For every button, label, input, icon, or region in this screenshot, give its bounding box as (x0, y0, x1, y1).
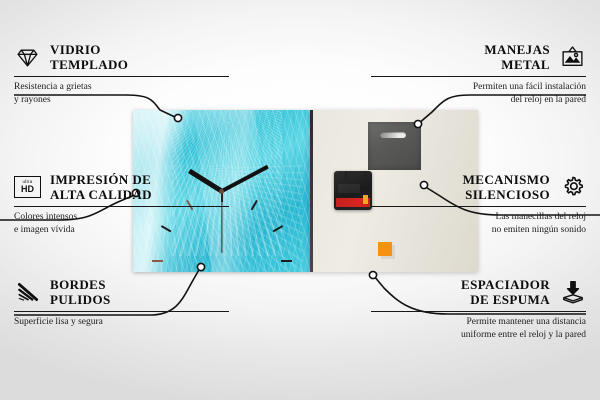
hour-tick (272, 225, 283, 232)
mechanism-label-accent (363, 195, 368, 204)
product-infographic: VIDRIO TEMPLADO Resistencia a grietas y … (0, 0, 600, 400)
polished-edges-icon (14, 279, 41, 306)
feature-title: MECANISMO SILENCIOSO (463, 172, 550, 203)
feature-vidrio-templado: VIDRIO TEMPLADO Resistencia a grietas y … (14, 42, 229, 106)
feature-title: IMPRESIÓN DE ALTA CALIDAD (50, 172, 152, 203)
hour-tick (250, 200, 257, 211)
feature-heading: MANEJAS METAL (371, 42, 586, 73)
mechanism-hanging-loop (345, 171, 366, 178)
feature-impresion-alta-calidad: ultra HD IMPRESIÓN DE ALTA CALIDAD Color… (14, 172, 229, 236)
foam-spacer-pad (378, 242, 392, 256)
hour-tick (152, 260, 163, 262)
hd-badge: ultra HD (14, 176, 41, 198)
feature-description: Resistencia a grietas y rayones (14, 81, 229, 106)
feature-mecanismo-silencioso: MECANISMO SILENCIOSO Las manecillas del … (371, 172, 586, 236)
ultra-hd-icon: ultra HD (14, 174, 41, 201)
gear-icon (559, 174, 586, 201)
clock-mechanism (334, 171, 372, 210)
feature-title: MANEJAS METAL (484, 42, 550, 73)
feature-divider (371, 311, 586, 312)
feature-heading: ultra HD IMPRESIÓN DE ALTA CALIDAD (14, 172, 229, 203)
foam-spacer-icon (559, 279, 586, 306)
feature-description: Permite mantener una distancia uniforme … (371, 316, 586, 341)
feature-divider (14, 311, 229, 312)
feature-divider (371, 76, 586, 77)
feature-bordes-pulidos: BORDES PULIDOS Superficie lisa y segura (14, 277, 229, 329)
feature-description: Colores intensos e imagen vívida (14, 211, 229, 236)
hd-badge-hd-text: HD (21, 185, 34, 194)
feature-divider (371, 206, 586, 207)
panel-edge (310, 110, 313, 272)
feature-description: Superficie lisa y segura (14, 316, 229, 329)
feature-manejas-metal: MANEJAS METAL Permiten una fácil instala… (371, 42, 586, 106)
feature-heading: BORDES PULIDOS (14, 277, 229, 308)
feature-description: Las manecillas del reloj no emiten ningú… (371, 211, 586, 236)
feature-heading: MECANISMO SILENCIOSO (371, 172, 586, 203)
hanging-picture-icon (559, 44, 586, 71)
metal-hanger-plate (368, 122, 421, 170)
hour-tick (281, 260, 292, 262)
feature-divider (14, 76, 229, 77)
mechanism-detail (338, 184, 360, 193)
feature-heading: VIDRIO TEMPLADO (14, 42, 229, 73)
diamond-icon (14, 44, 41, 71)
feature-divider (14, 206, 229, 207)
hanger-slot (380, 132, 406, 138)
feature-title: VIDRIO TEMPLADO (50, 42, 128, 73)
feature-title: BORDES PULIDOS (50, 277, 111, 308)
mechanism-label (336, 198, 370, 207)
feature-heading: ESPACIADOR DE ESPUMA (371, 277, 586, 308)
feature-description: Permiten una fácil instalación del reloj… (371, 81, 586, 106)
feature-title: ESPACIADOR DE ESPUMA (461, 277, 550, 308)
feature-espaciador-espuma: ESPACIADOR DE ESPUMA Permite mantener un… (371, 277, 586, 341)
